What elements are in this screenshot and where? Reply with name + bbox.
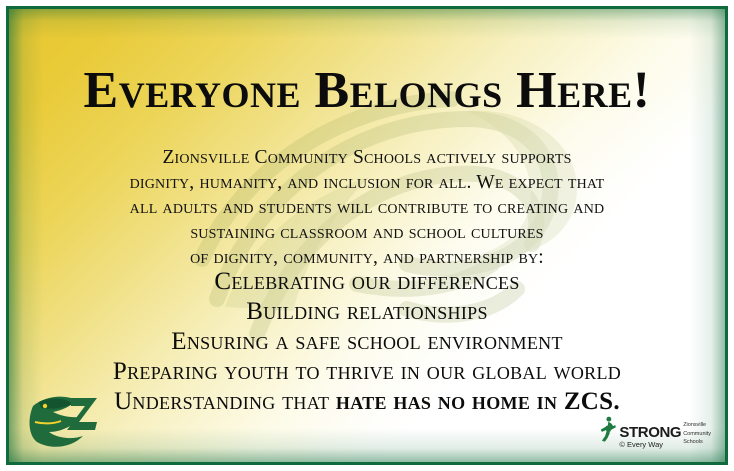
poster-frame: Everyone Belongs Here! Zionsville Commun… — [6, 6, 728, 465]
paragraph-line: Zionsville Community Schools actively su… — [9, 145, 725, 170]
paragraph-line: all adults and students will contribute … — [9, 195, 725, 220]
list-item: Preparing youth to thrive in our global … — [9, 357, 725, 387]
poster-content: Everyone Belongs Here! Zionsville Commun… — [9, 9, 725, 462]
district-line: Community — [683, 430, 711, 438]
paragraph-line: sustaining classroom and school cultures — [9, 220, 725, 245]
list-item: Celebrating our differences — [9, 267, 725, 297]
strong-every-way-logo: STRONG © Every Way Zionsville Community … — [599, 396, 711, 452]
zcs-eagle-logo-icon — [27, 392, 101, 454]
district-line: Schools — [683, 438, 711, 446]
poster-canvas: Everyone Belongs Here! Zionsville Commun… — [0, 0, 734, 471]
strong-wordmark: STRONG © Every Way — [619, 425, 681, 453]
running-figure-icon — [599, 406, 616, 452]
commitments-list: Celebrating our differences Building rel… — [9, 267, 725, 417]
strong-word: STRONG — [619, 425, 681, 440]
strong-tagline: © Every Way — [619, 441, 663, 449]
mission-paragraph: Zionsville Community Schools actively su… — [9, 145, 725, 270]
strong-district-name: Zionsville Community Schools — [683, 421, 711, 452]
final-line-emphasis: hate has no home in ZCS. — [336, 388, 620, 415]
page-title: Everyone Belongs Here! — [9, 61, 725, 120]
paragraph-line: dignity, humanity, and inclusion for all… — [9, 170, 725, 195]
list-item: Building relationships — [9, 297, 725, 327]
list-item: Ensuring a safe school environment — [9, 327, 725, 357]
district-line: Zionsville — [683, 421, 711, 429]
final-line-prefix: Understanding that — [114, 388, 336, 415]
